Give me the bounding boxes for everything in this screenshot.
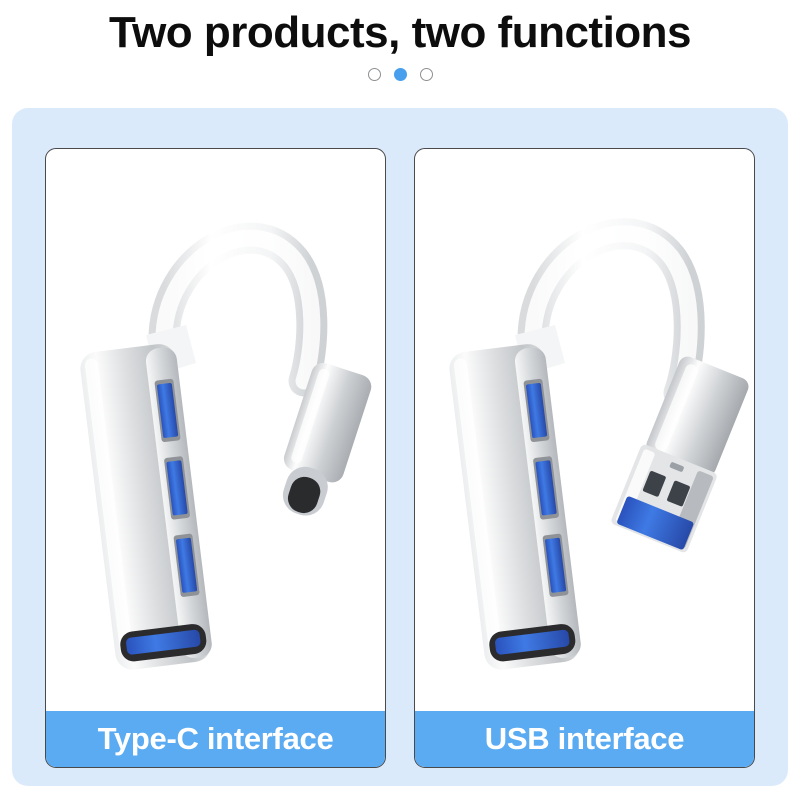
card-caption-usb: USB interface — [415, 711, 754, 767]
usb-hub-usb-illustration — [415, 149, 754, 709]
usb-c-connector — [268, 360, 374, 524]
carousel-dots[interactable] — [0, 66, 800, 82]
page-title: Two products, two functions — [0, 8, 800, 57]
product-card-usb[interactable]: USB interface — [414, 148, 755, 768]
usb-a-connector — [610, 352, 754, 553]
card-caption-text: USB interface — [485, 721, 684, 757]
products-panel: Type-C interface — [12, 108, 788, 786]
product-image-type-c — [46, 149, 385, 709]
usb-hub-type-c-illustration — [46, 149, 385, 709]
product-card-type-c[interactable]: Type-C interface — [45, 148, 386, 768]
card-caption-type-c: Type-C interface — [46, 711, 385, 767]
hub-body — [78, 342, 213, 671]
hub-body — [447, 342, 582, 671]
page-header: Two products, two functions — [0, 0, 800, 82]
cable-highlight — [533, 234, 689, 393]
product-card-list: Type-C interface — [45, 148, 755, 768]
card-caption-text: Type-C interface — [98, 721, 334, 757]
carousel-dot-3[interactable] — [420, 68, 433, 81]
carousel-dot-2-active[interactable] — [394, 68, 407, 81]
product-image-usb — [415, 149, 754, 709]
carousel-dot-1[interactable] — [368, 68, 381, 81]
